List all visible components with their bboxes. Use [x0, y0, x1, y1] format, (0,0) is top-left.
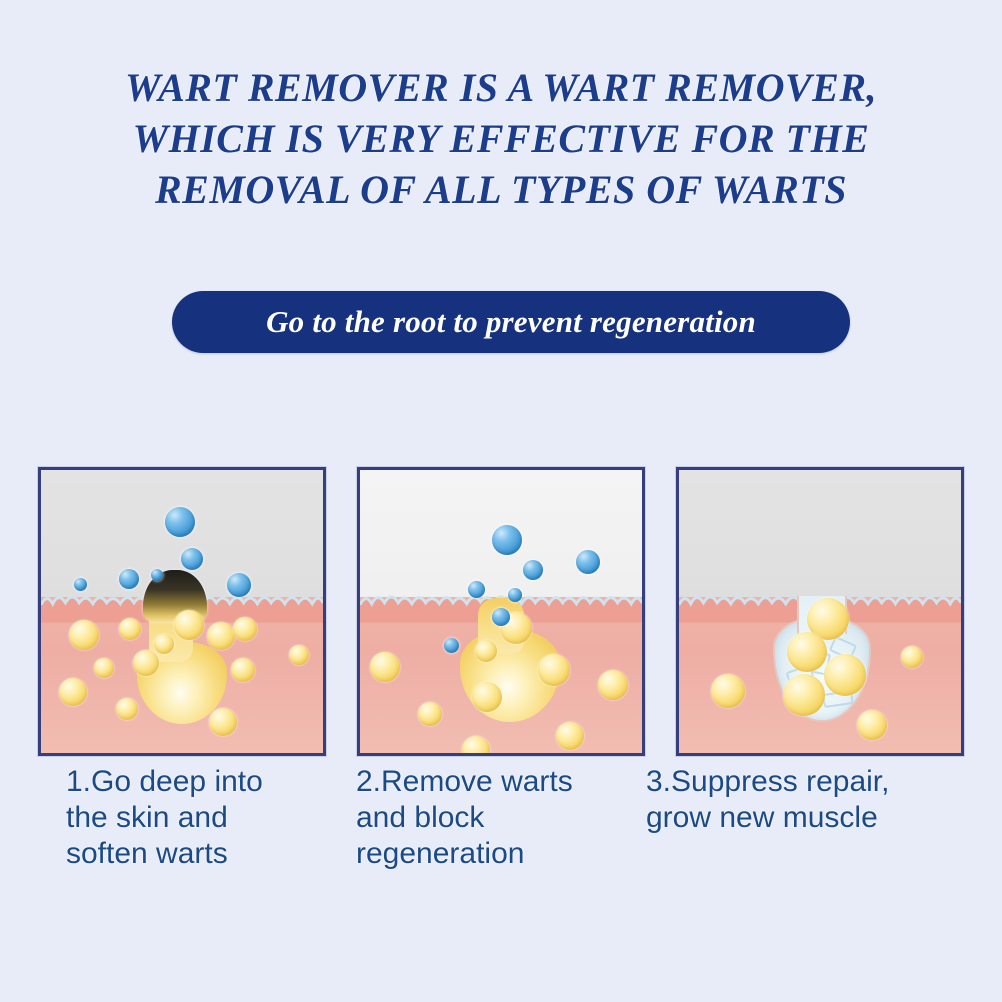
- tagline-banner: Go to the root to prevent regeneration: [172, 291, 850, 353]
- yellow-particle: [824, 654, 866, 696]
- illustration-panel-step-1: [38, 467, 326, 756]
- yellow-particle: [69, 620, 99, 650]
- blue-bubble: [74, 578, 87, 591]
- blue-bubble: [227, 573, 251, 597]
- blue-bubble: [492, 608, 510, 626]
- yellow-particle: [116, 698, 138, 720]
- yellow-particle: [538, 654, 570, 686]
- illustration-panel-step-2: [357, 467, 645, 756]
- page-title: WART REMOVER IS A WART REMOVER, WHICH IS…: [0, 62, 1002, 215]
- yellow-particle: [207, 622, 235, 650]
- yellow-particle: [289, 645, 309, 665]
- yellow-particle: [472, 682, 502, 712]
- yellow-particle: [901, 646, 923, 668]
- blue-bubble: [576, 550, 600, 574]
- yellow-particle: [857, 710, 887, 740]
- yellow-particle: [711, 674, 745, 708]
- step-caption-1: 1.Go deep into the skin and soften warts: [38, 764, 338, 904]
- yellow-particle: [174, 610, 204, 640]
- yellow-particle: [59, 678, 87, 706]
- yellow-particle: [231, 658, 255, 682]
- yellow-particle: [475, 640, 497, 662]
- blue-bubble: [508, 588, 522, 602]
- step-caption-2: 2.Remove warts and block regeneration: [338, 764, 638, 904]
- yellow-particle: [783, 674, 825, 716]
- blue-bubble: [181, 548, 203, 570]
- yellow-particle: [133, 650, 159, 676]
- blue-bubble: [523, 560, 543, 580]
- blue-bubble: [444, 638, 459, 653]
- yellow-particle: [462, 736, 490, 756]
- yellow-particle: [556, 722, 584, 750]
- yellow-particle: [209, 708, 237, 736]
- step-caption-3: 3.Suppress repair, grow new muscle: [638, 764, 968, 904]
- caption-row: 1.Go deep into the skin and soften warts…: [38, 764, 968, 904]
- blue-bubble: [151, 569, 163, 581]
- yellow-particle: [119, 618, 141, 640]
- yellow-particle: [370, 652, 400, 682]
- blue-bubble: [468, 581, 485, 598]
- yellow-particle: [233, 617, 257, 641]
- tagline-text: Go to the root to prevent regeneration: [266, 304, 756, 340]
- illustration-panel-step-3: [676, 467, 964, 756]
- yellow-particle: [598, 670, 628, 700]
- illustration-panel-row: [38, 467, 964, 756]
- blue-bubble: [492, 525, 522, 555]
- yellow-particle: [787, 632, 827, 672]
- yellow-particle: [154, 634, 174, 654]
- blue-bubble: [119, 569, 139, 589]
- yellow-particle: [94, 658, 114, 678]
- yellow-particle: [418, 702, 442, 726]
- blue-bubble: [165, 507, 195, 537]
